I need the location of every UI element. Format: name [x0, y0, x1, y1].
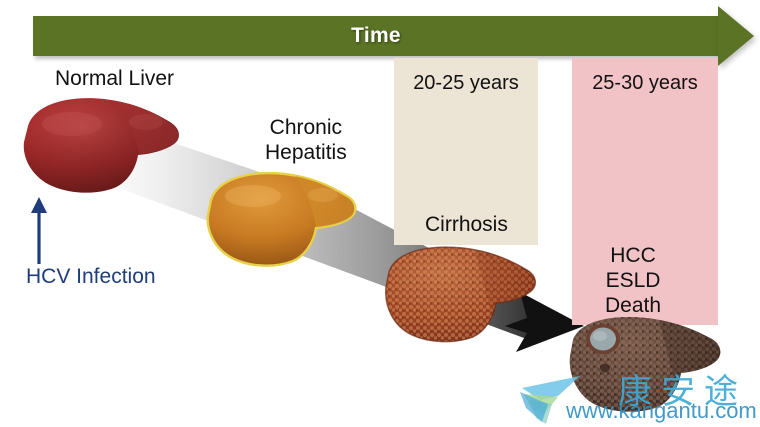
- label-chronic-hepatitis-line2: Hepatitis: [265, 140, 347, 165]
- cirrhosis-liver-illustration: [381, 242, 539, 344]
- duration-label-cirrhosis: 20-25 years: [413, 72, 519, 95]
- watermark-url: www.kangantu.com: [566, 398, 757, 424]
- chronic-hepatitis-liver-illustration: [203, 168, 359, 268]
- label-hcv-infection: HCV Infection: [26, 264, 156, 289]
- watermark: 康安途 www.kangantu.com: [518, 368, 760, 426]
- hcv-infection-up-arrow-icon: [30, 196, 48, 264]
- label-hcc-esld-death: HCC ESLD Death: [605, 243, 661, 318]
- label-hcc: HCC: [605, 243, 661, 268]
- time-arrow-label: Time: [33, 16, 719, 56]
- label-chronic-hepatitis-line1: Chronic: [265, 115, 347, 140]
- label-death: Death: [605, 293, 661, 318]
- diagram-canvas: Time 20-25 years 25-30 years: [0, 0, 760, 427]
- label-esld: ESLD: [605, 268, 661, 293]
- label-normal-liver: Normal Liver: [55, 66, 174, 91]
- duration-label-hcc: 25-30 years: [592, 72, 698, 95]
- normal-liver-illustration: [18, 92, 184, 196]
- time-arrow-head-icon: [718, 6, 754, 66]
- time-arrow: Time: [33, 16, 719, 56]
- label-chronic-hepatitis: Chronic Hepatitis: [265, 115, 347, 165]
- label-cirrhosis: Cirrhosis: [425, 212, 508, 237]
